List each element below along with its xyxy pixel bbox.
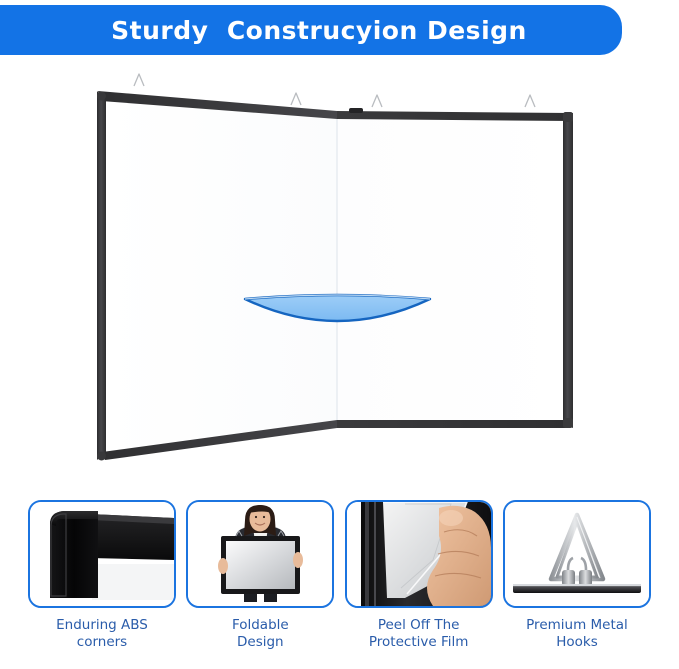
board-panel-left (104, 94, 337, 452)
frame-bottom-rail-right (337, 420, 570, 428)
eye-right (263, 516, 265, 518)
hand-left (218, 558, 228, 574)
feature-item-foldable-design[interactable]: Foldable Design (186, 500, 334, 669)
feature-caption-protective-film: Peel Off The Protective Film (369, 617, 469, 651)
frame-corner-bottom-left (97, 452, 106, 461)
feature-card-row: Enduring ABS corners (0, 500, 679, 669)
metal-hook-photo (505, 502, 649, 606)
mounting-rail-highlight (513, 584, 641, 586)
top-rail-hardware-nub (349, 108, 363, 113)
frame-corner-top-right (563, 112, 573, 122)
feature-item-metal-hooks[interactable]: Premium Metal Hooks (503, 500, 651, 669)
feature-card-metal-hooks[interactable] (503, 500, 651, 608)
board-panel-right (337, 113, 568, 424)
thumb-highlight (439, 510, 463, 526)
frame-right-post (563, 113, 573, 428)
folded-board-illustration (0, 60, 679, 490)
feature-card-abs-corners[interactable] (28, 500, 176, 608)
hook-bracket-right (579, 570, 592, 586)
eye-left (255, 516, 257, 518)
hero-product-image (0, 60, 679, 490)
abs-corner-block (50, 511, 98, 598)
feature-card-protective-film[interactable] (345, 500, 493, 608)
abs-corner-photo (30, 502, 174, 606)
frame-corner-bottom-right (563, 418, 573, 428)
wall-hook-icon (134, 74, 144, 86)
feature-caption-foldable-design: Foldable Design (232, 617, 289, 651)
feature-caption-metal-hooks: Premium Metal Hooks (526, 617, 628, 651)
header-banner: Sturdy Construcyion Design (0, 5, 622, 55)
page-title: Sturdy Construcyion Design (65, 16, 527, 45)
wall-hook-icon (525, 95, 535, 107)
panel-stripe (374, 502, 376, 606)
hand-right (293, 552, 303, 568)
frame-corner-top-left (97, 92, 106, 101)
woman-holding-board-photo (188, 502, 332, 606)
board-sliver (92, 564, 174, 600)
feature-item-abs-corners[interactable]: Enduring ABS corners (28, 500, 176, 669)
panel-stripe (365, 502, 369, 606)
feature-caption-abs-corners: Enduring ABS corners (56, 617, 148, 651)
hook-bracket-left (562, 570, 575, 586)
wall-hook-icon (372, 95, 382, 107)
feature-card-foldable-design[interactable] (186, 500, 334, 608)
held-board-face (226, 541, 295, 589)
feature-item-protective-film[interactable]: Peel Off The Protective Film (345, 500, 493, 669)
wall-hook-icon (291, 93, 301, 105)
hand-peeling-film-photo (347, 502, 491, 606)
frame-left-post (97, 91, 106, 460)
